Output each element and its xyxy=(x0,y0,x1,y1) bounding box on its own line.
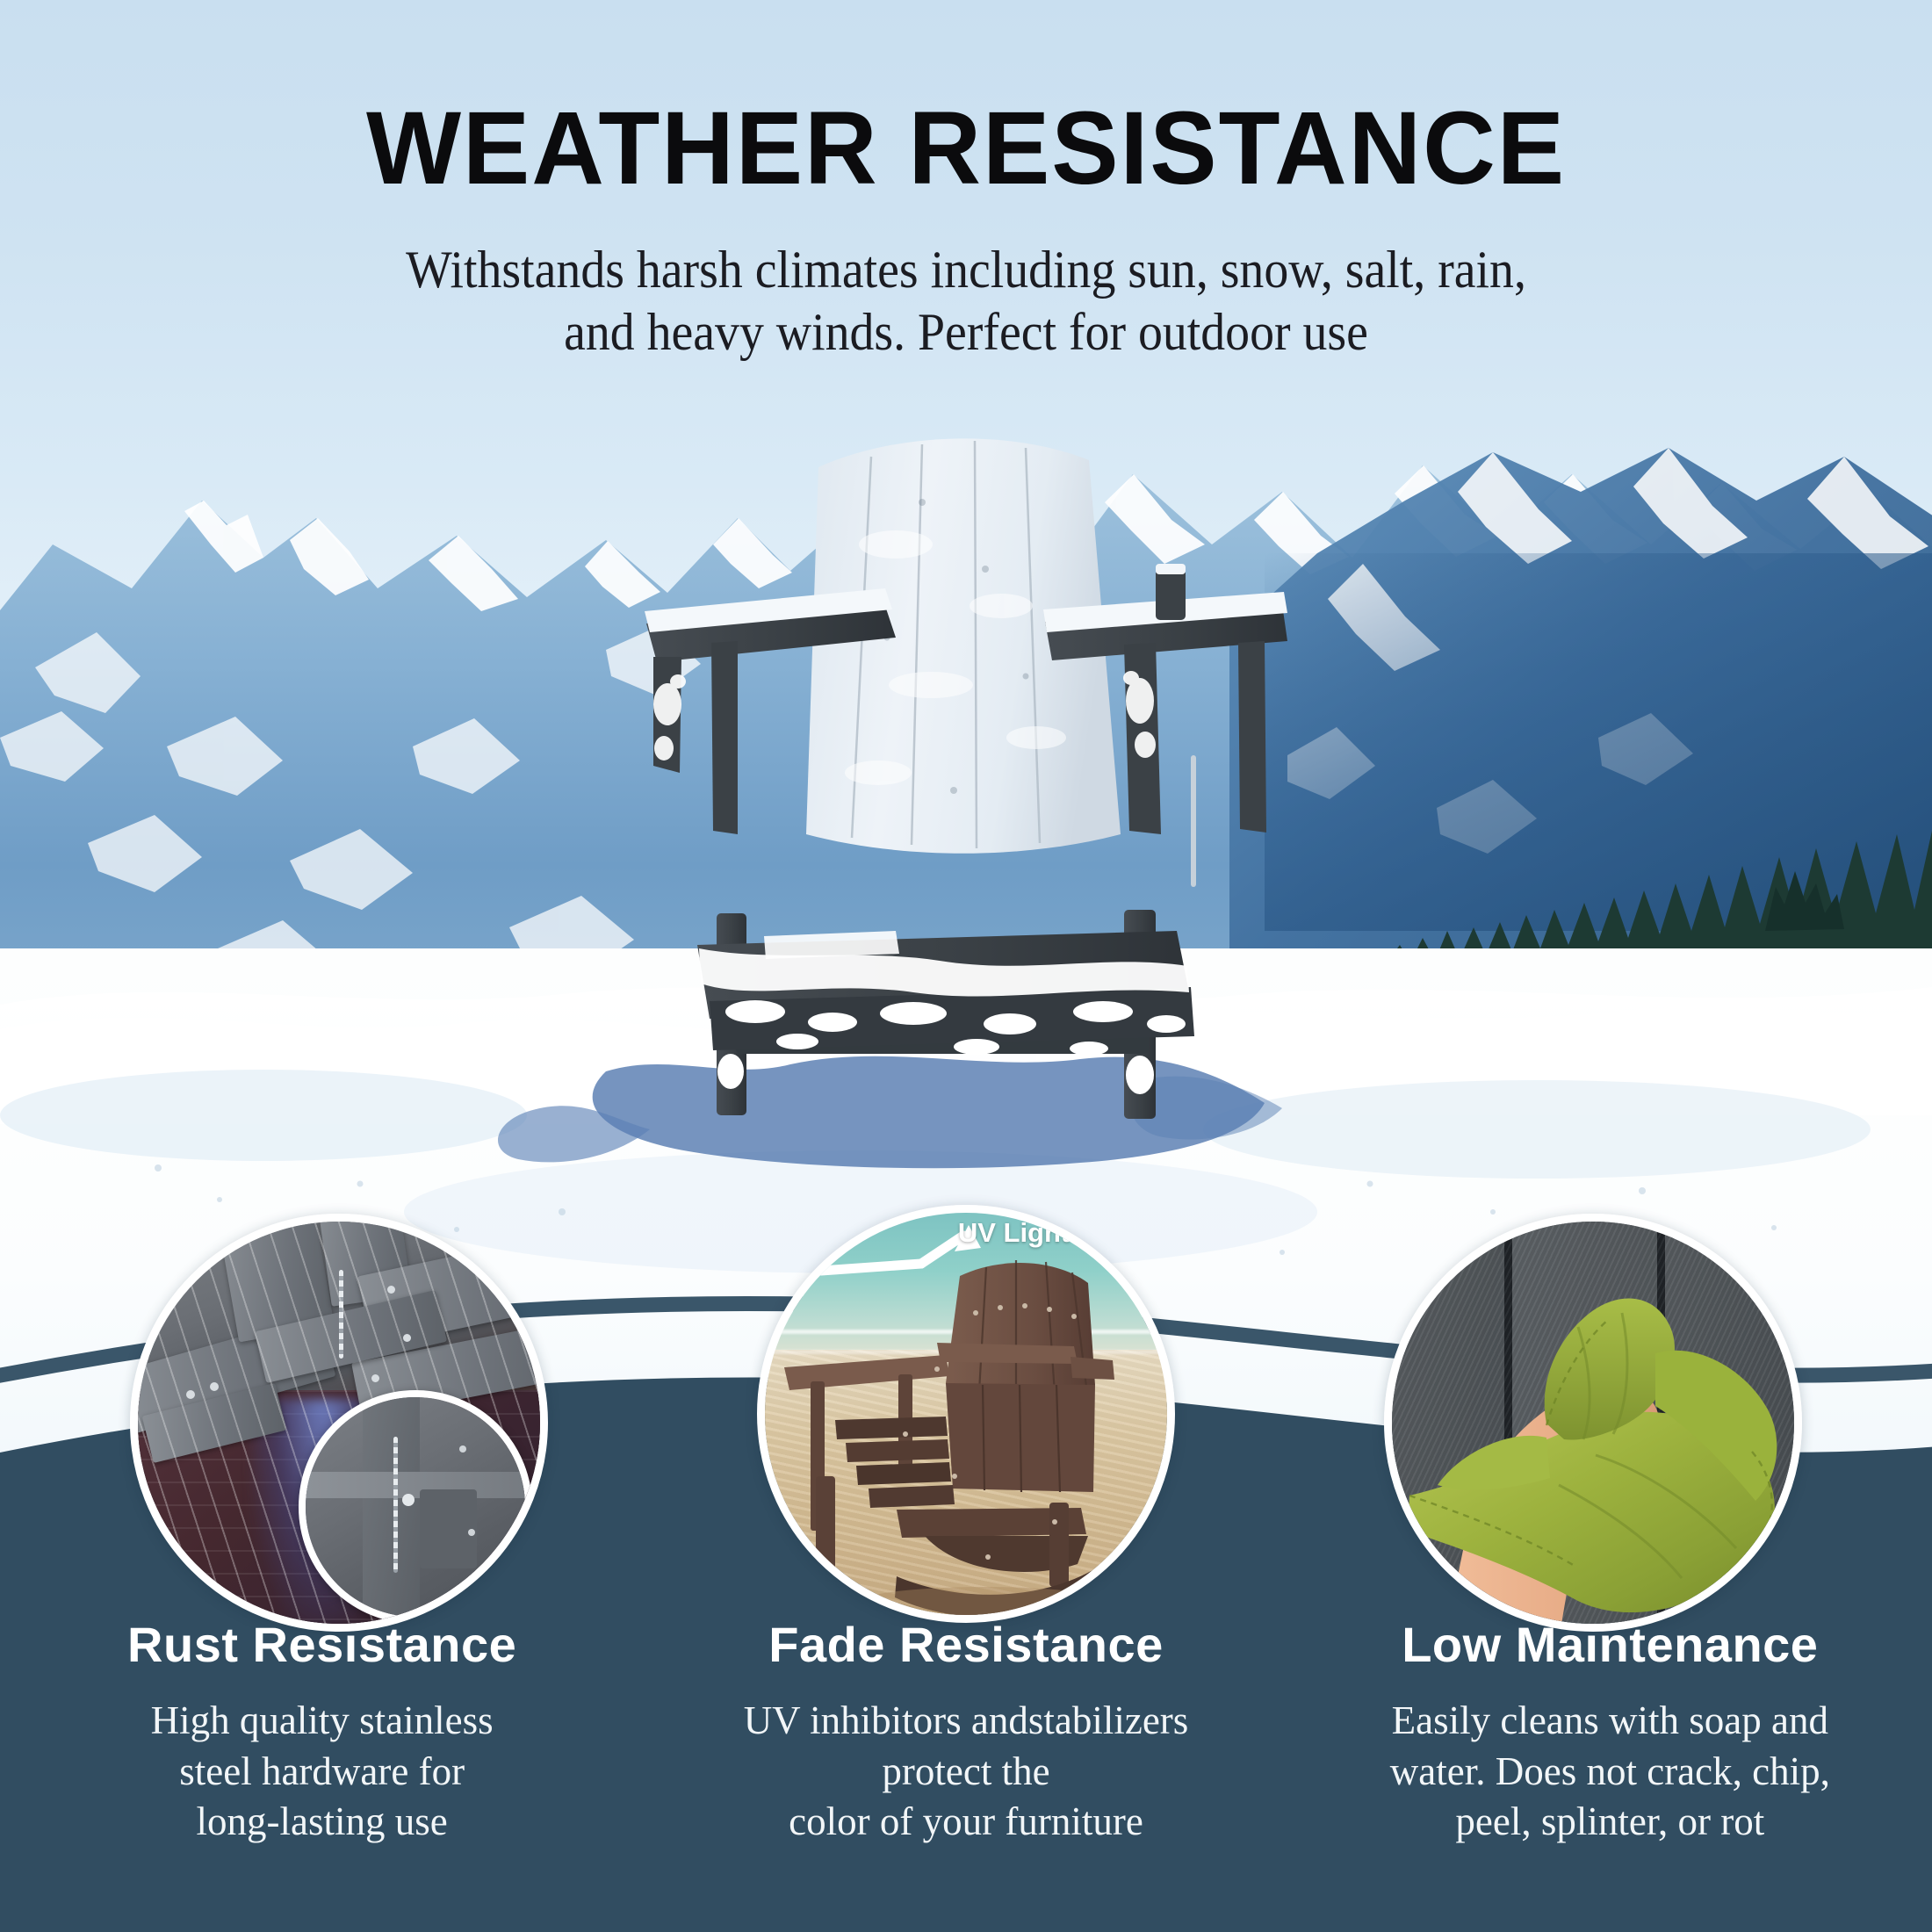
desc-line-1: Easily cleans with soap and xyxy=(1323,1696,1897,1747)
feature-card-fade-resistance: Fade Resistance UV inhibitors andstabili… xyxy=(644,1616,1287,1848)
desc-line-2: protect the xyxy=(679,1747,1252,1798)
feature-image-fade-resistance: UV Light xyxy=(757,1205,1175,1623)
feature-cards: Rust Resistance High quality stainless s… xyxy=(0,1616,1932,1848)
desc-line-1: High quality stainless xyxy=(35,1696,609,1747)
desc-line-2: water. Does not crack, chip, xyxy=(1323,1747,1897,1798)
card-description: Easily cleans with soap and water. Does … xyxy=(1323,1696,1897,1848)
hardware-closeup-inset xyxy=(299,1390,532,1624)
card-title: Low Maintenance xyxy=(1323,1616,1897,1673)
microfiber-cloth xyxy=(1392,1222,1802,1632)
card-description: High quality stainless steel hardware fo… xyxy=(35,1696,609,1848)
desc-line-2: steel hardware for xyxy=(35,1747,609,1798)
page-subtitle: Withstands harsh climates including sun,… xyxy=(68,239,1864,364)
card-title: Fade Resistance xyxy=(679,1616,1252,1673)
subtitle-line-1: Withstands harsh climates including sun,… xyxy=(68,239,1864,301)
desc-line-1: UV inhibitors andstabilizers xyxy=(679,1696,1252,1747)
desc-line-3: long-lasting use xyxy=(35,1797,609,1848)
uv-light-annotation: UV Light xyxy=(958,1217,1070,1249)
feature-image-rust-resistance xyxy=(130,1214,548,1632)
feature-card-low-maintenance: Low Maintenance Easily cleans with soap … xyxy=(1288,1616,1932,1848)
header-block: WEATHER RESISTANCE Withstands harsh clim… xyxy=(0,0,1932,364)
poster-canvas: UV Light xyxy=(0,0,1932,1932)
card-description: UV inhibitors andstabilizers protect the… xyxy=(679,1696,1252,1848)
card-title: Rust Resistance xyxy=(35,1616,609,1673)
snow-covered-adirondack-chair xyxy=(632,422,1300,1124)
feature-card-rust-resistance: Rust Resistance High quality stainless s… xyxy=(0,1616,644,1848)
desc-line-3: peel, splinter, or rot xyxy=(1323,1797,1897,1848)
desc-line-3: color of your furniture xyxy=(679,1797,1252,1848)
page-title: WEATHER RESISTANCE xyxy=(29,0,1903,200)
feature-image-low-maintenance xyxy=(1384,1214,1802,1632)
subtitle-line-2: and heavy winds. Perfect for outdoor use xyxy=(68,301,1864,364)
